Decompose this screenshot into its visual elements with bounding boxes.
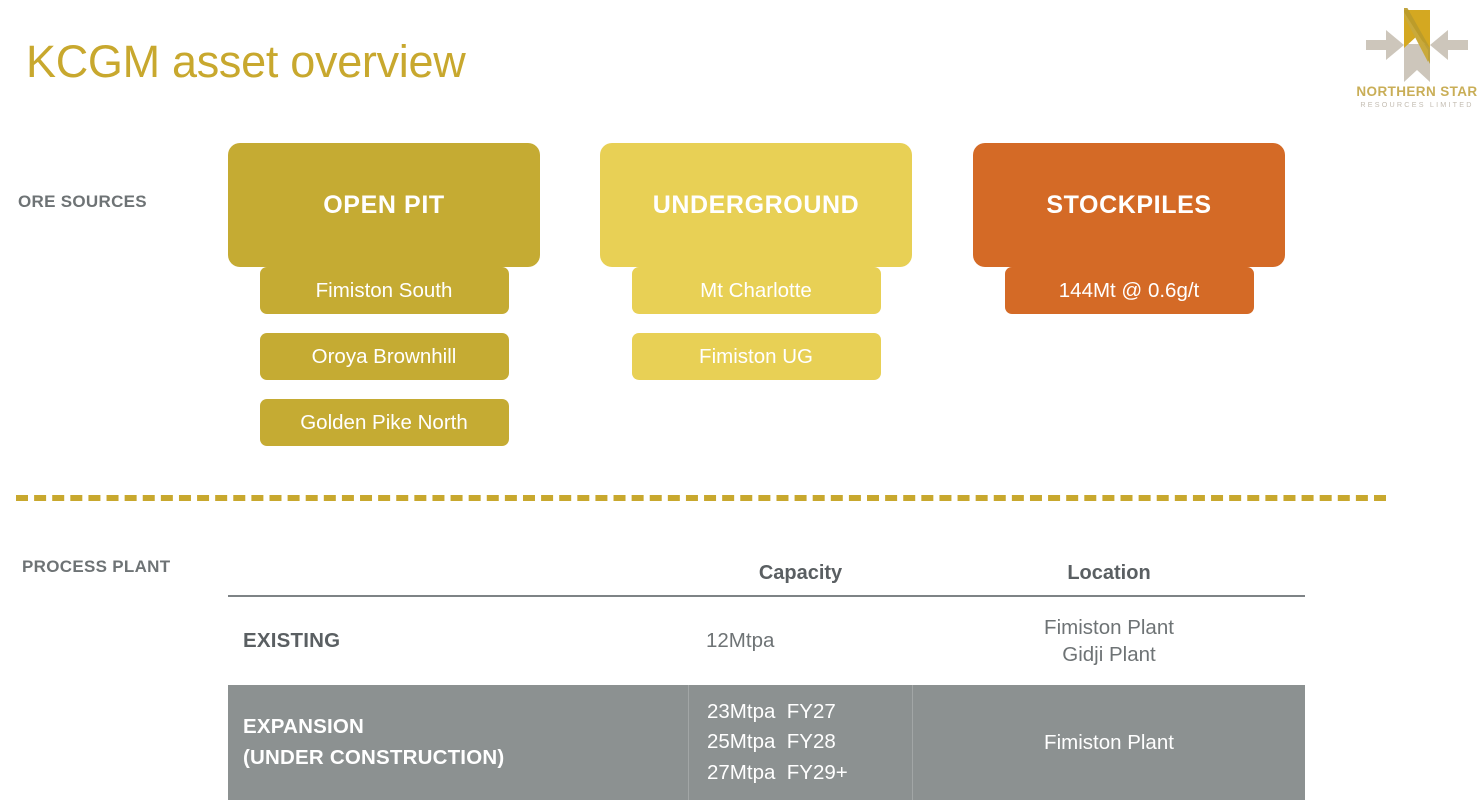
ore-head-underground[interactable]: UNDERGROUND (600, 143, 912, 267)
ore-sources-label: ORE SOURCES (18, 192, 147, 212)
section-divider (16, 495, 1386, 501)
row-label-expansion-line1: EXPANSION (243, 712, 688, 743)
row-capacity-expansion: 23Mtpa FY27 25Mtpa FY28 27Mtpa FY29+ (688, 685, 913, 800)
ore-item-stockpile-grade[interactable]: 144Mt @ 0.6g/t (1005, 267, 1254, 314)
page-title: KCGM asset overview (26, 36, 465, 88)
process-plant-table: Capacity Location EXISTING 12Mtpa Fimist… (228, 552, 1305, 800)
row-location-expansion: Fimiston Plant (913, 685, 1305, 800)
slide-canvas: KCGM asset overview NORTHERN STAR RESOUR… (0, 0, 1483, 802)
table-row-expansion: EXPANSION (UNDER CONSTRUCTION) 23Mtpa FY… (228, 685, 1305, 800)
ore-item-oroya-brownhill[interactable]: Oroya Brownhill (260, 333, 509, 380)
location-line-fimiston-plant: Fimiston Plant (1044, 614, 1174, 641)
ore-column-stockpiles: STOCKPILES 144Mt @ 0.6g/t (973, 143, 1285, 314)
ore-head-stockpiles[interactable]: STOCKPILES (973, 143, 1285, 267)
row-capacity-existing: 12Mtpa (688, 629, 913, 653)
company-logo: NORTHERN STAR RESOURCES LIMITED (1356, 8, 1478, 112)
capacity-line-fy27: 23Mtpa FY27 (707, 697, 912, 727)
ore-item-golden-pike-north[interactable]: Golden Pike North (260, 399, 509, 446)
capacity-line-fy28: 25Mtpa FY28 (707, 727, 912, 757)
table-header-row: Capacity Location (228, 552, 1305, 594)
table-header-location: Location (913, 552, 1305, 594)
ore-column-open-pit: OPEN PIT Fimiston South Oroya Brownhill … (228, 143, 540, 446)
capacity-line-fy29: 27Mtpa FY29+ (707, 758, 912, 788)
row-location-existing: Fimiston Plant Gidji Plant (913, 614, 1305, 669)
row-label-expansion: EXPANSION (UNDER CONSTRUCTION) (228, 685, 688, 800)
location-line-gidji-plant: Gidji Plant (1062, 641, 1155, 668)
ore-item-fimiston-south[interactable]: Fimiston South (260, 267, 509, 314)
table-row-existing: EXISTING 12Mtpa Fimiston Plant Gidji Pla… (228, 597, 1305, 685)
table-header-capacity: Capacity (688, 552, 913, 594)
table-header-blank (228, 552, 688, 594)
logo-company-name: NORTHERN STAR (1356, 84, 1478, 99)
logo-tagline: RESOURCES LIMITED (1356, 100, 1478, 109)
ore-item-mt-charlotte[interactable]: Mt Charlotte (632, 267, 881, 314)
ore-column-underground: UNDERGROUND Mt Charlotte Fimiston UG (600, 143, 912, 380)
northern-star-compass-icon (1364, 8, 1470, 84)
ore-item-fimiston-ug[interactable]: Fimiston UG (632, 333, 881, 380)
row-label-expansion-line2: (UNDER CONSTRUCTION) (243, 743, 688, 774)
ore-head-open-pit[interactable]: OPEN PIT (228, 143, 540, 267)
row-label-existing: EXISTING (228, 629, 688, 653)
process-plant-label: PROCESS PLANT (22, 557, 170, 577)
